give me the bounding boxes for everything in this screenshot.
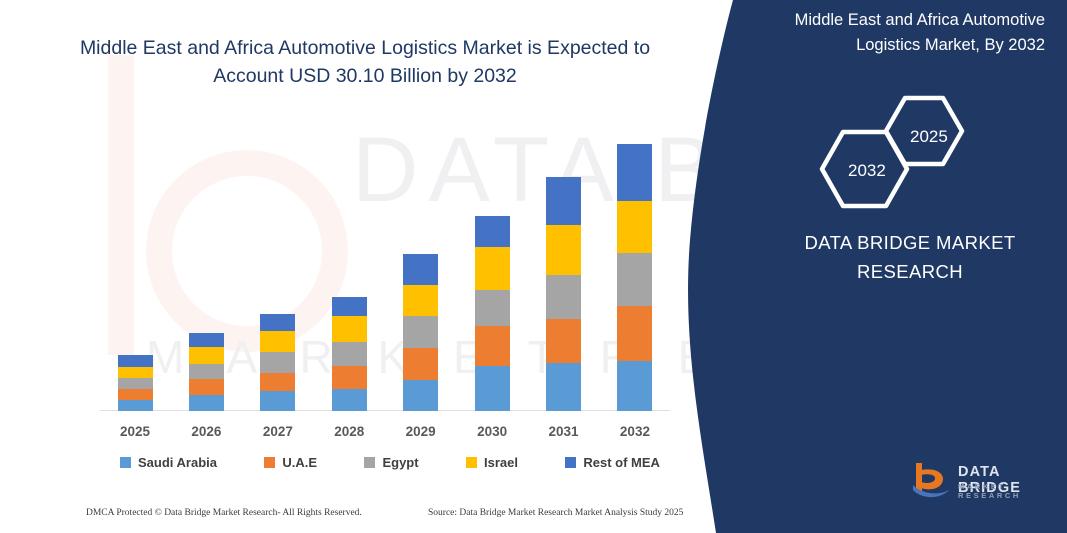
- x-axis-label: 2031: [529, 424, 599, 439]
- legend-label: U.A.E: [282, 455, 317, 470]
- bar-column: [243, 120, 313, 411]
- bar-segment: [617, 144, 652, 201]
- bar-segment: [617, 253, 652, 306]
- company-logo: DATA BRIDGE MARKET RESEARCH: [908, 460, 1058, 502]
- stacked-bar-2025: [118, 355, 153, 411]
- legend-swatch: [565, 457, 576, 468]
- stacked-bar-2030: [475, 216, 510, 411]
- x-axis-label: 2028: [314, 424, 384, 439]
- legend-swatch: [466, 457, 477, 468]
- legend-item[interactable]: U.A.E: [264, 455, 317, 470]
- bar-segment: [332, 389, 367, 411]
- bar-segment: [403, 285, 438, 316]
- legend-swatch: [264, 457, 275, 468]
- stacked-bar-2026: [189, 333, 224, 411]
- bar-segment: [617, 306, 652, 361]
- logo-text-secondary: MARKET RESEARCH: [958, 482, 1058, 500]
- legend-item[interactable]: Israel: [466, 455, 518, 470]
- bar-segment: [118, 389, 153, 400]
- brand-name: DATA BRIDGE MARKET RESEARCH: [760, 228, 1060, 286]
- x-axis-label: 2029: [386, 424, 456, 439]
- x-axis-label: 2032: [600, 424, 670, 439]
- legend-item[interactable]: Egypt: [364, 455, 418, 470]
- bar-segment: [189, 395, 224, 411]
- bar-segment: [118, 355, 153, 367]
- bar-segment: [403, 316, 438, 348]
- bar-segment: [546, 225, 581, 275]
- stacked-bar-2028: [332, 297, 367, 411]
- x-axis-label: 2030: [457, 424, 527, 439]
- chart-title: Middle East and Africa Automotive Logist…: [60, 34, 670, 90]
- bar-segment: [475, 366, 510, 411]
- bar-segment: [475, 247, 510, 290]
- stacked-bar-chart: [100, 120, 670, 411]
- legend-label: Rest of MEA: [583, 455, 660, 470]
- bar-segment: [189, 364, 224, 379]
- x-axis-label: 2026: [171, 424, 241, 439]
- bar-segment: [118, 367, 153, 378]
- legend-item[interactable]: Rest of MEA: [565, 455, 660, 470]
- bar-segment: [189, 333, 224, 347]
- bar-segment: [546, 177, 581, 225]
- bar-segment: [546, 275, 581, 319]
- bar-segment: [260, 391, 295, 411]
- bar-column: [171, 120, 241, 411]
- bar-segment: [546, 319, 581, 363]
- bar-segment: [546, 363, 581, 411]
- stacked-bar-2027: [260, 314, 295, 411]
- legend-label: Saudi Arabia: [138, 455, 217, 470]
- bar-segment: [260, 331, 295, 352]
- legend-item[interactable]: Saudi Arabia: [120, 455, 217, 470]
- stacked-bar-2032: [617, 144, 652, 411]
- bar-segment: [260, 314, 295, 331]
- bar-column: [600, 120, 670, 411]
- bar-column: [529, 120, 599, 411]
- stacked-bar-2031: [546, 177, 581, 411]
- bar-column: [457, 120, 527, 411]
- legend-label: Egypt: [382, 455, 418, 470]
- bar-segment: [617, 361, 652, 411]
- bar-segment: [332, 316, 367, 342]
- bar-segment: [617, 201, 652, 253]
- footer-copyright: DMCA Protected © Data Bridge Market Rese…: [86, 508, 362, 518]
- bar-segment: [332, 297, 367, 316]
- bar-group: [100, 120, 670, 411]
- bar-segment: [332, 366, 367, 389]
- hexagon-group: 2025 2032: [810, 95, 1010, 220]
- bar-segment: [475, 290, 510, 326]
- legend-label: Israel: [484, 455, 518, 470]
- bar-segment: [403, 348, 438, 380]
- stacked-bar-2029: [403, 254, 438, 411]
- panel-title: Middle East and Africa Automotive Logist…: [735, 8, 1045, 58]
- bar-segment: [118, 400, 153, 411]
- bar-segment: [260, 352, 295, 373]
- hexagon-2032-label: 2032: [848, 161, 886, 181]
- logo-mark: [908, 461, 954, 501]
- bar-column: [314, 120, 384, 411]
- bar-segment: [118, 378, 153, 389]
- bar-segment: [403, 380, 438, 411]
- legend-swatch: [364, 457, 375, 468]
- hexagon-2025-label: 2025: [910, 127, 948, 147]
- bar-segment: [475, 326, 510, 366]
- bar-segment: [189, 379, 224, 395]
- x-axis-label: 2027: [243, 424, 313, 439]
- bar-segment: [189, 347, 224, 364]
- chart-legend: Saudi ArabiaU.A.EEgyptIsraelRest of MEA: [120, 455, 660, 470]
- bar-segment: [260, 373, 295, 391]
- bar-segment: [475, 216, 510, 247]
- legend-swatch: [120, 457, 131, 468]
- bar-segment: [403, 254, 438, 285]
- infographic-canvas: DATA BRI M A R K E T R E S E A R C H Mid…: [0, 0, 1067, 533]
- bar-column: [386, 120, 456, 411]
- bar-column: [100, 120, 170, 411]
- x-axis-label: 2025: [100, 424, 170, 439]
- footer-source: Source: Data Bridge Market Research Mark…: [428, 508, 683, 518]
- bar-segment: [332, 342, 367, 366]
- x-axis-labels: 20252026202720282029203020312032: [100, 424, 670, 439]
